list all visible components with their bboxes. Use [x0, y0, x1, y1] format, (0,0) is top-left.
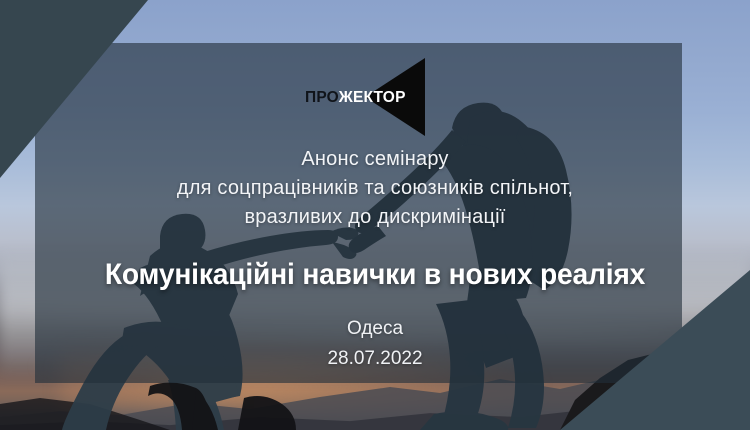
subhead-line-3: вразливих до дискримінації: [60, 203, 690, 232]
event-date: 28.07.2022: [0, 348, 750, 370]
event-city: Одеса: [0, 318, 750, 340]
poster-canvas: ПРОЖЕКТОР Анонс семінару для соцпрацівни…: [0, 0, 750, 430]
poster-content: Анонс семінару для соцпрацівників та сою…: [0, 0, 750, 430]
seminar-title: Комунікаційні навички в нових реаліях: [51, 258, 700, 292]
subhead-line-1: Анонс семінару: [60, 145, 690, 174]
announcement-subheading: Анонс семінару для соцпрацівників та сою…: [60, 145, 690, 232]
subhead-line-2: для соцпрацівників та союзників спільнот…: [60, 174, 690, 203]
